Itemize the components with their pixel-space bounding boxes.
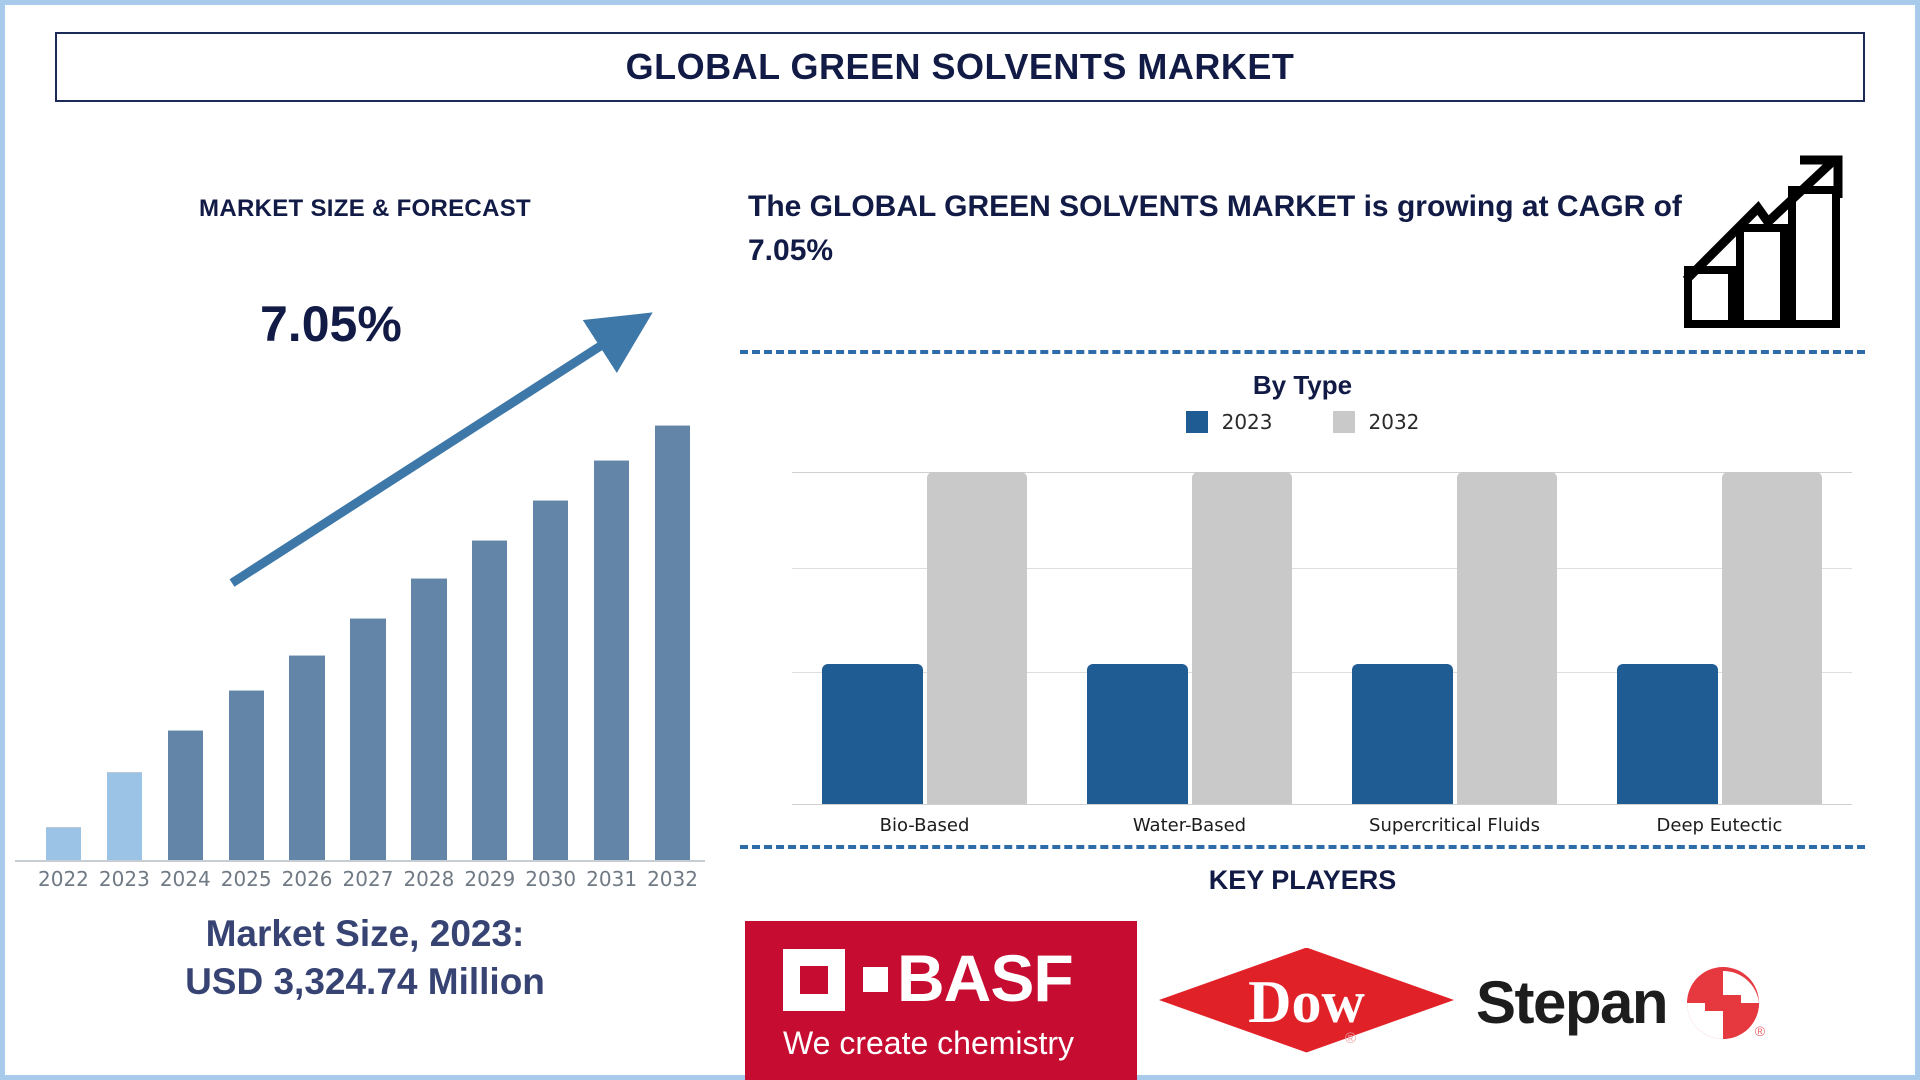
year-label-2032: 2032 xyxy=(642,867,703,891)
by-type-category-labels: Bio-Based Water-Based Supercritical Flui… xyxy=(792,815,1852,836)
bar-group-supercritical-fluids xyxy=(1322,472,1587,804)
cagr-statement: The GLOBAL GREEN SOLVENTS MARKET is grow… xyxy=(748,185,1683,272)
by-type-bar-chart xyxy=(792,450,1852,830)
bar-2031 xyxy=(594,460,629,860)
growth-chart-arrow-icon xyxy=(1680,150,1865,330)
bar-cell-2023 xyxy=(94,355,155,860)
bar-2030 xyxy=(533,500,568,860)
basf-wordmark: BASF xyxy=(897,940,1073,1016)
market-size-callout: Market Size, 2023: USD 3,324.74 Million xyxy=(15,910,715,1006)
category-label-supercritical-fluids: Supercritical Fluids xyxy=(1322,815,1587,836)
stepan-s-mark-icon: ® xyxy=(1685,965,1761,1041)
bar-2029 xyxy=(472,540,507,860)
legend-label-2032: 2032 xyxy=(1369,410,1420,434)
basf-logo[interactable]: BASF We create chemistry xyxy=(745,921,1137,1080)
legend-swatch-2023 xyxy=(1186,411,1208,433)
bar-2023 xyxy=(107,772,142,860)
legend-label-2023: 2023 xyxy=(1222,410,1273,434)
year-label-2025: 2025 xyxy=(216,867,277,891)
bar-2024 xyxy=(168,730,203,860)
bar-2022 xyxy=(46,827,81,860)
bar-group-water-based xyxy=(1057,472,1322,804)
right-panel: The GLOBAL GREEN SOLVENTS MARKET is grow… xyxy=(740,175,1865,1075)
legend-item-2032[interactable]: 2032 xyxy=(1333,410,1420,434)
bar-cell-2031 xyxy=(581,355,642,860)
by-type-chart-title: By Type xyxy=(740,370,1865,401)
stepan-wordmark: Stepan xyxy=(1476,968,1667,1037)
bar-2026 xyxy=(289,655,324,860)
market-size-bar-chart xyxy=(33,355,703,860)
stepan-logo[interactable]: Stepan ® xyxy=(1476,950,1816,1055)
bar-cell-2030 xyxy=(520,355,581,860)
dow-registered-mark: ® xyxy=(1345,1030,1356,1047)
bar-cell-2029 xyxy=(459,355,520,860)
bar-cell-2026 xyxy=(277,355,338,860)
market-size-year-line: Market Size, 2023: xyxy=(15,910,715,958)
bar-cell-2027 xyxy=(338,355,399,860)
basf-tagline: We create chemistry xyxy=(783,1025,1074,1062)
bar-deep-eutectic-2023 xyxy=(1617,664,1718,804)
bar-water-based-2032 xyxy=(1192,472,1293,804)
year-label-2027: 2027 xyxy=(338,867,399,891)
bar-2028 xyxy=(411,578,446,860)
bar-group-deep-eutectic xyxy=(1587,472,1852,804)
page-title: GLOBAL GREEN SOLVENTS MARKET xyxy=(626,46,1295,88)
infographic-page: GLOBAL GREEN SOLVENTS MARKET MARKET SIZE… xyxy=(0,0,1920,1080)
legend-swatch-2032 xyxy=(1333,411,1355,433)
bar-cell-2024 xyxy=(155,355,216,860)
basf-dot-icon xyxy=(863,967,888,992)
bar-group-bio-based xyxy=(792,472,1057,804)
year-label-2031: 2031 xyxy=(581,867,642,891)
year-label-2023: 2023 xyxy=(94,867,155,891)
bar-bio-based-2032 xyxy=(927,472,1028,804)
stepan-registered-mark: ® xyxy=(1755,1023,1765,1039)
market-size-value-line: USD 3,324.74 Million xyxy=(15,958,715,1006)
bar-cell-2022 xyxy=(33,355,94,860)
market-size-bars xyxy=(33,355,703,860)
dow-wordmark: Dow xyxy=(1159,968,1454,1037)
divider-bottom xyxy=(740,845,1865,849)
year-label-2026: 2026 xyxy=(277,867,338,891)
bar-cell-2032 xyxy=(642,355,703,860)
bar-2032 xyxy=(655,425,690,860)
category-label-water-based: Water-Based xyxy=(1057,815,1322,836)
category-label-deep-eutectic: Deep Eutectic xyxy=(1587,815,1852,836)
year-axis-labels: 2022 2023 2024 2025 2026 2027 2028 2029 … xyxy=(33,867,703,891)
year-label-2029: 2029 xyxy=(459,867,520,891)
bar-cell-2025 xyxy=(216,355,277,860)
bar-2025 xyxy=(229,690,264,860)
market-size-forecast-heading: MARKET SIZE & FORECAST xyxy=(15,195,715,223)
market-size-forecast-panel: MARKET SIZE & FORECAST 7.05% xyxy=(15,175,715,1075)
by-type-legend: 2023 2032 xyxy=(740,410,1865,434)
year-label-2028: 2028 xyxy=(398,867,459,891)
category-label-bio-based: Bio-Based xyxy=(792,815,1057,836)
basf-square-icon xyxy=(783,949,845,1011)
bar-cell-2028 xyxy=(398,355,459,860)
bar-2027 xyxy=(350,618,385,860)
bar-deep-eutectic-2032 xyxy=(1722,472,1823,804)
year-label-2022: 2022 xyxy=(33,867,94,891)
bar-water-based-2023 xyxy=(1087,664,1188,804)
gridline-baseline xyxy=(792,804,1852,805)
by-type-bar-groups xyxy=(792,472,1852,804)
bar-supercritical-fluids-2032 xyxy=(1457,472,1558,804)
legend-item-2023[interactable]: 2023 xyxy=(1186,410,1273,434)
year-label-2024: 2024 xyxy=(155,867,216,891)
divider-top xyxy=(740,350,1865,354)
key-players-logos: BASF We create chemistry Dow ® Stepan xyxy=(740,915,1865,1080)
dow-logo[interactable]: Dow ® xyxy=(1159,944,1454,1062)
key-players-title: KEY PLAYERS xyxy=(740,865,1865,896)
bar-supercritical-fluids-2023 xyxy=(1352,664,1453,804)
x-axis-line xyxy=(15,860,705,862)
title-banner: GLOBAL GREEN SOLVENTS MARKET xyxy=(55,32,1865,102)
year-label-2030: 2030 xyxy=(520,867,581,891)
bar-bio-based-2023 xyxy=(822,664,923,804)
